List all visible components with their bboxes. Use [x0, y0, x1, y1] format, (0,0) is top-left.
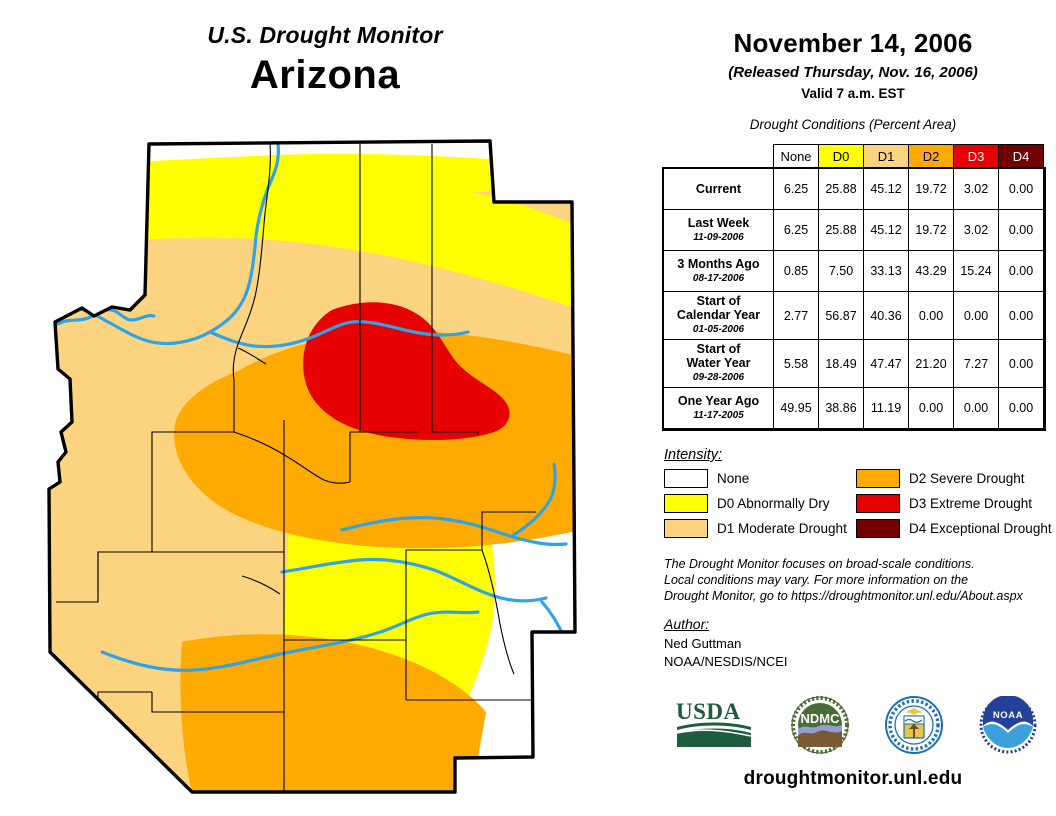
legend-label-0: None: [717, 471, 749, 486]
svg-text:NDMC: NDMC: [801, 711, 841, 726]
svg-text:USDA: USDA: [676, 699, 741, 724]
valid-time: Valid 7 a.m. EST: [650, 86, 1056, 101]
cell-r4-c5: 0.00: [999, 340, 1044, 388]
legend-label-3: D3 Extreme Drought: [909, 496, 1032, 511]
col-header-d0: D0: [819, 145, 864, 169]
table-row: Start ofCalendar Year01-05-20062.7756.87…: [664, 292, 1044, 340]
cell-r1-c3: 19.72: [909, 210, 954, 251]
table-corner-cell: [664, 145, 774, 169]
row-label-4: Start ofWater Year09-28-2006: [664, 340, 774, 388]
row-label-main: Current: [696, 182, 741, 196]
cell-r1-c2: 45.12: [864, 210, 909, 251]
cell-r1-c4: 3.02: [954, 210, 999, 251]
cell-r4-c0: 5.58: [774, 340, 819, 388]
legend-swatch-0: [664, 469, 708, 488]
map-title-block: U.S. Drought Monitor Arizona: [0, 22, 650, 98]
row-label-date: 09-28-2006: [667, 371, 770, 385]
map-panel: U.S. Drought Monitor Arizona: [0, 0, 650, 816]
legend-swatch-2: [664, 494, 708, 513]
legend-label-5: D4 Exceptional Drought: [909, 521, 1052, 536]
intensity-legend: Intensity: NoneD2 Severe DroughtD0 Abnor…: [664, 447, 1056, 538]
drought-conditions-table: None D0 D1 D2 D3 D4 Current6.2525.8845.1…: [663, 144, 1044, 429]
cell-r5-c3: 0.00: [909, 388, 954, 429]
cell-r4-c1: 18.49: [819, 340, 864, 388]
legend-item-0: None: [664, 469, 856, 488]
logos-row: USDA NDMC: [655, 692, 1055, 758]
legend-item-5: D4 Exceptional Drought: [856, 519, 1056, 538]
cell-r3-c3: 0.00: [909, 292, 954, 340]
disclaimer-line-1: The Drought Monitor focuses on broad-sca…: [664, 556, 1056, 572]
cell-r5-c1: 38.86: [819, 388, 864, 429]
cell-r3-c1: 56.87: [819, 292, 864, 340]
cell-r2-c2: 33.13: [864, 251, 909, 292]
row-label-main: Start ofCalendar Year: [677, 294, 760, 322]
table-row: Current6.2525.8845.1219.723.020.00: [664, 169, 1044, 210]
cell-r5-c0: 49.95: [774, 388, 819, 429]
col-header-d3: D3: [954, 145, 999, 169]
cell-r4-c4: 7.27: [954, 340, 999, 388]
row-label-5: One Year Ago11-17-2005: [664, 388, 774, 429]
col-header-d2: D2: [909, 145, 954, 169]
cell-r3-c0: 2.77: [774, 292, 819, 340]
author-affiliation: NOAA/NESDIS/NCEI: [664, 653, 1056, 671]
author-name: Ned Guttman: [664, 635, 1056, 653]
disclaimer-line-2: Local conditions may vary. For more info…: [664, 572, 1056, 588]
row-label-date: 11-09-2006: [667, 231, 770, 245]
date-block: November 14, 2006 (Released Thursday, No…: [650, 0, 1056, 101]
report-date: November 14, 2006: [650, 28, 1056, 59]
cell-r5-c2: 11.19: [864, 388, 909, 429]
legend-item-1: D2 Severe Drought: [856, 469, 1056, 488]
cell-r3-c4: 0.00: [954, 292, 999, 340]
author-block: Author: Ned Guttman NOAA/NESDIS/NCEI: [664, 616, 1056, 671]
row-label-main: Last Week: [688, 216, 750, 230]
row-label-date: 11-17-2005: [667, 409, 770, 423]
legend-item-2: D0 Abnormally Dry: [664, 494, 856, 513]
table-row: Last Week11-09-20066.2525.8845.1219.723.…: [664, 210, 1044, 251]
table-row: Start ofWater Year09-28-20065.5818.4947.…: [664, 340, 1044, 388]
cell-r0-c0: 6.25: [774, 169, 819, 210]
ndmc-logo: NDMC: [791, 696, 849, 754]
cell-r0-c4: 3.02: [954, 169, 999, 210]
cell-r2-c5: 0.00: [999, 251, 1044, 292]
release-date: (Released Thursday, Nov. 16, 2006): [650, 64, 1056, 81]
cell-r0-c3: 19.72: [909, 169, 954, 210]
legend-swatch-5: [856, 519, 900, 538]
svg-text:NOAA: NOAA: [993, 710, 1023, 721]
row-label-1: Last Week11-09-2006: [664, 210, 774, 251]
cell-r4-c3: 21.20: [909, 340, 954, 388]
legend-item-3: D3 Extreme Drought: [856, 494, 1056, 513]
cell-r4-c2: 47.47: [864, 340, 909, 388]
cell-r1-c0: 6.25: [774, 210, 819, 251]
cell-r0-c2: 45.12: [864, 169, 909, 210]
disclaimer-line-3: Drought Monitor, go to https://droughtmo…: [664, 588, 1056, 604]
cell-r2-c1: 7.50: [819, 251, 864, 292]
row-label-3: Start ofCalendar Year01-05-2006: [664, 292, 774, 340]
cell-r2-c3: 43.29: [909, 251, 954, 292]
table-row: One Year Ago11-17-200549.9538.8611.190.0…: [664, 388, 1044, 429]
cell-r2-c4: 15.24: [954, 251, 999, 292]
cell-r1-c5: 0.00: [999, 210, 1044, 251]
cell-r2-c0: 0.85: [774, 251, 819, 292]
disclaimer-text: The Drought Monitor focuses on broad-sca…: [664, 556, 1056, 604]
legend-label-2: D0 Abnormally Dry: [717, 496, 830, 511]
usda-logo: USDA: [673, 697, 755, 753]
cell-r3-c2: 40.36: [864, 292, 909, 340]
noaa-logo: NOAA: [979, 696, 1037, 754]
drought-monitor-title: U.S. Drought Monitor: [0, 22, 650, 49]
info-panel: November 14, 2006 (Released Thursday, No…: [650, 0, 1056, 816]
row-label-date: 08-17-2006: [667, 272, 770, 286]
site-url[interactable]: droughtmonitor.unl.edu: [650, 768, 1056, 790]
cell-r0-c5: 0.00: [999, 169, 1044, 210]
table-caption: Drought Conditions (Percent Area): [650, 117, 1056, 132]
col-header-none: None: [774, 145, 819, 169]
legend-label-1: D2 Severe Drought: [909, 471, 1025, 486]
cell-r1-c1: 25.88: [819, 210, 864, 251]
col-header-d4: D4: [999, 145, 1044, 169]
row-label-main: 3 Months Ago: [677, 257, 759, 271]
state-name-title: Arizona: [0, 53, 650, 98]
legend-item-4: D1 Moderate Drought: [664, 519, 856, 538]
legend-label-4: D1 Moderate Drought: [717, 521, 847, 536]
legend-grid: NoneD2 Severe DroughtD0 Abnormally DryD3…: [664, 469, 1056, 538]
cell-r3-c5: 0.00: [999, 292, 1044, 340]
row-label-main: One Year Ago: [678, 394, 759, 408]
legend-heading: Intensity:: [664, 447, 1056, 463]
legend-swatch-3: [856, 494, 900, 513]
row-label-0: Current: [664, 169, 774, 210]
cell-r0-c1: 25.88: [819, 169, 864, 210]
author-heading: Author:: [664, 616, 1056, 632]
cell-r5-c4: 0.00: [954, 388, 999, 429]
col-header-d1: D1: [864, 145, 909, 169]
table-header-row: None D0 D1 D2 D3 D4: [664, 145, 1044, 169]
row-label-date: 01-05-2006: [667, 323, 770, 337]
arizona-drought-map[interactable]: [42, 132, 612, 802]
table-row: 3 Months Ago08-17-20060.857.5033.1343.29…: [664, 251, 1044, 292]
table-body: Current6.2525.8845.1219.723.020.00Last W…: [664, 169, 1044, 429]
row-label-2: 3 Months Ago08-17-2006: [664, 251, 774, 292]
cell-r5-c5: 0.00: [999, 388, 1044, 429]
usda-seal-logo: [885, 696, 943, 754]
row-label-main: Start ofWater Year: [687, 342, 751, 370]
legend-swatch-1: [856, 469, 900, 488]
legend-swatch-4: [664, 519, 708, 538]
